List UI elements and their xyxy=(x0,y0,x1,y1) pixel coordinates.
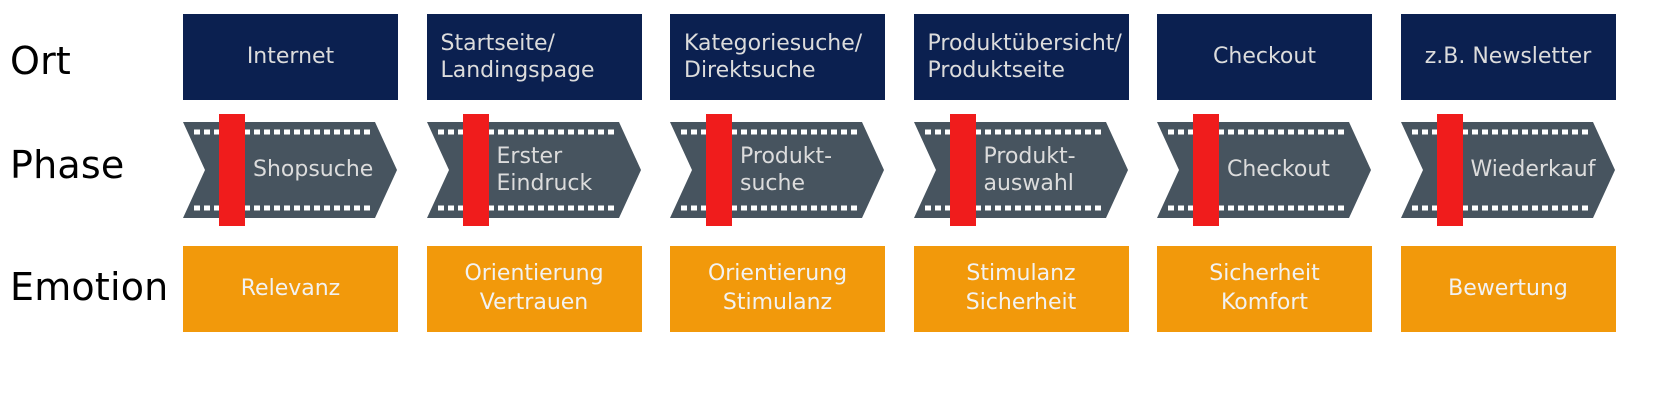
ort-cell: Kategoriesuche/ Direktsuche xyxy=(670,14,914,100)
emotion-box[interactable]: Relevanz xyxy=(183,246,398,332)
ort-box[interactable]: Kategoriesuche/ Direktsuche xyxy=(670,14,885,100)
phase-marker-bar[interactable] xyxy=(950,114,976,226)
ort-track: InternetStartseite/ LandingspageKategori… xyxy=(183,14,1644,100)
phase-cell: Checkout xyxy=(1157,122,1401,218)
emotion-cell: Stimulanz Sicherheit xyxy=(914,246,1158,332)
emotion-box[interactable]: Bewertung xyxy=(1401,246,1616,332)
row-label-phase: Phase xyxy=(10,146,185,186)
phase-track: ShopsucheErster EindruckProdukt- suchePr… xyxy=(183,122,1644,218)
phase-arrow[interactable]: Produkt- suche xyxy=(670,122,884,218)
emotion-box[interactable]: Orientierung Stimulanz xyxy=(670,246,885,332)
row-emotion: Emotion RelevanzOrientierung VertrauenOr… xyxy=(0,246,1654,332)
phase-cell: Produkt- auswahl xyxy=(914,122,1158,218)
phase-arrow[interactable]: Erster Eindruck xyxy=(427,122,641,218)
phase-marker-bar[interactable] xyxy=(1437,114,1463,226)
ort-cell: Produktübersicht/ Produktseite xyxy=(914,14,1158,100)
row-phase: Phase ShopsucheErster EindruckProdukt- s… xyxy=(0,122,1654,218)
emotion-cell: Orientierung Vertrauen xyxy=(427,246,671,332)
phase-marker-bar[interactable] xyxy=(706,114,732,226)
chevron-arrow-icon xyxy=(1401,122,1615,218)
ort-cell: Internet xyxy=(183,14,427,100)
ort-box[interactable]: Checkout xyxy=(1157,14,1372,100)
row-ort: Ort InternetStartseite/ LandingspageKate… xyxy=(0,14,1654,100)
row-label-emotion: Emotion xyxy=(10,268,185,308)
phase-marker-bar[interactable] xyxy=(463,114,489,226)
emotion-box[interactable]: Stimulanz Sicherheit xyxy=(914,246,1129,332)
ort-box[interactable]: z.B. Newsletter xyxy=(1401,14,1616,100)
chevron-arrow-icon xyxy=(1157,122,1371,218)
emotion-cell: Bewertung xyxy=(1401,246,1645,332)
row-label-ort: Ort xyxy=(10,42,185,82)
chevron-arrow-icon xyxy=(670,122,884,218)
emotion-cell: Relevanz xyxy=(183,246,427,332)
emotion-box[interactable]: Orientierung Vertrauen xyxy=(427,246,642,332)
customer-journey-diagram: Ort InternetStartseite/ LandingspageKate… xyxy=(0,0,1654,413)
phase-marker-bar[interactable] xyxy=(219,114,245,226)
emotion-track: RelevanzOrientierung VertrauenOrientieru… xyxy=(183,246,1644,332)
ort-box[interactable]: Startseite/ Landingspage xyxy=(427,14,642,100)
phase-cell: Wiederkauf xyxy=(1401,122,1645,218)
phase-cell: Erster Eindruck xyxy=(427,122,671,218)
chevron-arrow-icon xyxy=(427,122,641,218)
ort-cell: z.B. Newsletter xyxy=(1401,14,1645,100)
phase-arrow[interactable]: Produkt- auswahl xyxy=(914,122,1128,218)
phase-arrow[interactable]: Shopsuche xyxy=(183,122,397,218)
phase-marker-bar[interactable] xyxy=(1193,114,1219,226)
phase-cell: Produkt- suche xyxy=(670,122,914,218)
emotion-cell: Orientierung Stimulanz xyxy=(670,246,914,332)
phase-arrow[interactable]: Wiederkauf xyxy=(1401,122,1615,218)
ort-box[interactable]: Internet xyxy=(183,14,398,100)
chevron-arrow-icon xyxy=(914,122,1128,218)
emotion-cell: Sicherheit Komfort xyxy=(1157,246,1401,332)
chevron-arrow-icon xyxy=(183,122,397,218)
ort-cell: Startseite/ Landingspage xyxy=(427,14,671,100)
ort-cell: Checkout xyxy=(1157,14,1401,100)
emotion-box[interactable]: Sicherheit Komfort xyxy=(1157,246,1372,332)
ort-box[interactable]: Produktübersicht/ Produktseite xyxy=(914,14,1129,100)
phase-cell: Shopsuche xyxy=(183,122,427,218)
phase-arrow[interactable]: Checkout xyxy=(1157,122,1371,218)
